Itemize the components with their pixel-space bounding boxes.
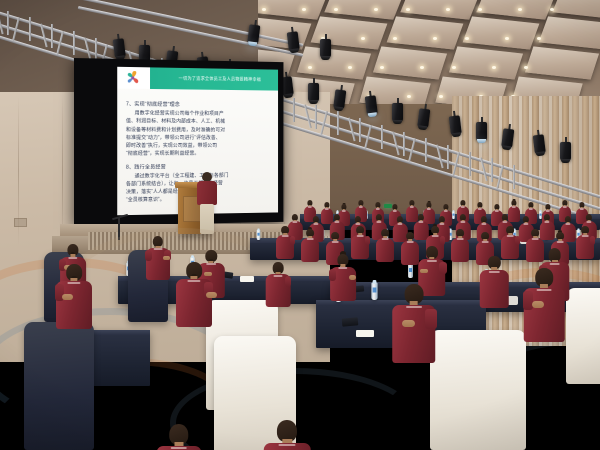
maroon-polo-shirt xyxy=(401,241,419,265)
polo-collar xyxy=(427,208,431,210)
forearm xyxy=(62,294,73,300)
shirt-sleeve xyxy=(145,250,151,261)
forearm xyxy=(420,269,428,274)
polo-collar xyxy=(342,210,346,212)
polo-collar xyxy=(325,208,329,210)
attendee xyxy=(330,254,356,300)
truss-vertical-member xyxy=(7,11,9,35)
polo-collar xyxy=(524,223,529,225)
banquet-chair xyxy=(24,322,94,450)
attendee xyxy=(146,236,170,279)
stage-light xyxy=(392,98,403,125)
attendee xyxy=(264,420,311,450)
polo-collar xyxy=(274,275,283,277)
polo-collar xyxy=(67,282,80,284)
shirt-sleeve xyxy=(425,309,437,329)
stage-light xyxy=(501,123,515,151)
attendee xyxy=(501,226,519,258)
forearm xyxy=(349,275,357,279)
polo-collar xyxy=(335,221,340,223)
mobile-phone xyxy=(342,317,359,326)
polo-collar xyxy=(444,210,448,212)
polo-collar xyxy=(170,447,187,449)
truss-vertical-member xyxy=(359,118,361,142)
truss-vertical-member xyxy=(337,111,339,135)
truss-vertical-member xyxy=(513,165,515,189)
shirt-sleeve xyxy=(285,276,292,287)
polo-collar xyxy=(482,223,487,225)
truss-vertical-member xyxy=(425,138,427,162)
polo-collar xyxy=(293,221,298,223)
truss-vertical-member xyxy=(73,31,75,55)
shirt-sleeve xyxy=(439,262,446,275)
slide-heading-2: 8、践行全员经营 xyxy=(126,162,270,171)
slide-line: 值、利润目标、材料及内部成本、人工、机械 xyxy=(126,118,270,127)
attendee xyxy=(451,229,469,261)
slide-line: 和设备等材料费和计划费用，及时准确的可对 xyxy=(126,126,270,134)
presenter xyxy=(196,172,218,234)
polo-collar xyxy=(507,235,514,237)
wall-vent xyxy=(14,218,27,227)
shirt-sleeve xyxy=(523,291,534,310)
stage-light xyxy=(320,34,331,61)
polo-collar xyxy=(532,238,539,240)
polo-collar xyxy=(338,267,347,269)
shirt-sleeve xyxy=(290,236,295,244)
slide-banner: 一切为了追求全体员工及人员物质精神幸福 xyxy=(117,67,278,91)
truss-vertical-member xyxy=(293,98,295,122)
polo-collar xyxy=(461,206,465,208)
polo-collar xyxy=(308,206,312,208)
slide-line: 标准提交“动力”，带领公司进行“评估改善、 xyxy=(126,134,270,142)
polo-collar xyxy=(545,221,550,223)
forearm xyxy=(532,301,544,308)
polo-collar xyxy=(382,238,389,240)
banquet-chair xyxy=(430,330,526,450)
polo-collar xyxy=(406,306,422,308)
forearm xyxy=(163,256,170,260)
polo-collar xyxy=(187,280,200,282)
stage-light xyxy=(364,90,378,118)
polo-collar xyxy=(563,206,567,208)
presenter-shirt xyxy=(197,181,217,205)
conference-hall-scene: 一切为了追求全体员工及人员物质精神幸福 7、实现“彻底经营”理念用数字化经营实现… xyxy=(0,0,600,450)
truss-vertical-member xyxy=(29,17,31,41)
water-bottle xyxy=(257,230,261,240)
polo-collar xyxy=(419,221,424,223)
stage-light xyxy=(532,129,546,157)
truss-vertical-member xyxy=(403,132,405,156)
polo-collar xyxy=(566,223,571,225)
attendee xyxy=(176,262,212,327)
stage-light xyxy=(247,19,261,47)
truss-vertical-member xyxy=(315,105,317,129)
stage-light xyxy=(333,84,347,112)
stage-light xyxy=(448,110,462,138)
attendee xyxy=(392,284,436,362)
stage-light xyxy=(476,117,487,144)
polo-collar xyxy=(398,223,403,225)
notepad xyxy=(356,330,374,337)
stage-light xyxy=(112,33,126,61)
polo-collar xyxy=(461,221,466,223)
polo-collar xyxy=(529,208,533,210)
polo-collar xyxy=(478,208,482,210)
polo-collar xyxy=(503,221,508,223)
maroon-polo-shirt xyxy=(451,238,469,262)
truss-vertical-member xyxy=(491,158,493,182)
shirt-sleeve xyxy=(365,236,370,244)
polo-collar xyxy=(407,241,414,243)
water-bottle xyxy=(452,211,455,219)
truss-vertical-member xyxy=(381,125,383,149)
stage-light xyxy=(308,78,319,105)
attendee xyxy=(524,268,565,341)
truss-vertical-member xyxy=(469,152,471,176)
polo-collar xyxy=(512,206,516,208)
attendee xyxy=(301,229,319,261)
polo-collar xyxy=(359,206,363,208)
slide-banner-title: 一切为了追求全体员工及人员物质精神幸福 xyxy=(179,76,261,83)
shirt-sleeve xyxy=(590,236,595,244)
slide-line: “彻底经营”，实现长期利益经营。 xyxy=(126,150,270,158)
attendee xyxy=(56,264,92,329)
stage-light xyxy=(560,137,571,164)
attendee xyxy=(266,262,291,306)
polo-collar xyxy=(357,235,364,237)
polo-collar xyxy=(537,289,552,291)
polo-collar xyxy=(546,210,550,212)
polo-collar xyxy=(279,444,296,446)
stage-light xyxy=(286,26,300,54)
polo-collar xyxy=(580,208,584,210)
slide-heading-1: 7、实现“彻底经营”理念 xyxy=(126,100,270,109)
polo-collar xyxy=(432,235,439,237)
polo-collar xyxy=(154,248,163,250)
maroon-polo-shirt xyxy=(376,238,394,262)
maroon-polo-shirt xyxy=(301,238,319,262)
polo-collar xyxy=(282,235,289,237)
polo-collar xyxy=(314,223,319,225)
attendee xyxy=(276,226,294,258)
attendee xyxy=(156,424,201,450)
polo-collar xyxy=(482,241,489,243)
polo-collar xyxy=(549,263,560,265)
water-bottle xyxy=(408,264,413,278)
polo-collar xyxy=(489,271,499,273)
polo-collar xyxy=(307,238,314,240)
pinwheel-flower-logo xyxy=(125,70,140,86)
polo-collar xyxy=(410,206,414,208)
attendee xyxy=(480,256,509,307)
polo-collar xyxy=(332,241,339,243)
water-bottle xyxy=(371,283,377,301)
polo-collar xyxy=(557,241,564,243)
truss-vertical-member xyxy=(447,145,449,169)
attendee xyxy=(376,229,394,261)
polo-collar xyxy=(376,208,380,210)
forearm xyxy=(206,292,217,298)
attendee xyxy=(576,226,594,258)
forearm xyxy=(402,320,415,327)
polo-collar xyxy=(393,210,397,212)
notepad xyxy=(240,276,254,282)
polo-collar xyxy=(457,238,464,240)
shirt-sleeve xyxy=(329,269,336,281)
polo-collar xyxy=(587,221,592,223)
polo-collar xyxy=(582,235,589,237)
stage-light xyxy=(417,103,431,131)
attendee xyxy=(401,232,419,264)
maroon-polo-shirt xyxy=(480,270,509,308)
polo-collar xyxy=(377,221,382,223)
shirt-sleeve xyxy=(440,236,445,244)
polo-collar xyxy=(68,257,77,259)
shirt-sleeve xyxy=(515,236,520,244)
truss-vertical-member xyxy=(51,24,53,48)
banquet-chair xyxy=(566,288,600,384)
polo-collar xyxy=(427,260,437,262)
truss-chord-secondary xyxy=(78,0,304,47)
polo-collar xyxy=(495,210,499,212)
